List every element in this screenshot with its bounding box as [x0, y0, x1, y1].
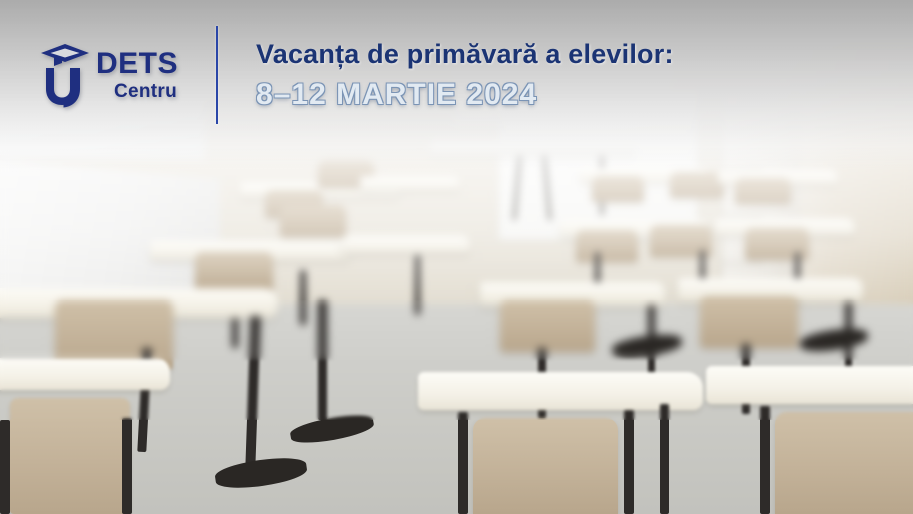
chair-leg — [0, 420, 10, 514]
chair-leg — [122, 418, 132, 514]
desk-leg — [318, 300, 327, 420]
cabinet-shelf — [721, 215, 763, 217]
student-chair — [670, 172, 724, 198]
cabinet-shelf — [721, 262, 763, 264]
student-chair — [592, 176, 644, 202]
promo-banner: DETS Centru Vacanța de primăvară a elevi… — [0, 0, 913, 514]
student-chair — [775, 412, 913, 514]
student-chair — [576, 230, 638, 262]
chair-leg — [458, 412, 468, 514]
header-divider — [216, 26, 218, 124]
desk-leg — [415, 255, 420, 315]
chair-leg — [760, 406, 770, 514]
student-chair — [473, 418, 618, 514]
student-chair — [280, 205, 346, 237]
headline-dates: 8–12 MARTIE 2024 — [256, 78, 674, 112]
student-chair — [195, 252, 273, 292]
student-desk — [706, 366, 913, 404]
student-chair — [700, 296, 798, 348]
student-desk — [0, 358, 170, 390]
chair-leg — [624, 410, 634, 514]
logo-primary-text: DETS — [96, 49, 178, 79]
student-chair — [10, 398, 130, 514]
student-chair — [735, 178, 791, 204]
desk-leg — [660, 404, 669, 514]
graduation-cap-u-logo-icon — [40, 42, 92, 108]
logo-secondary-text: Centru — [114, 82, 178, 101]
headline-block: Vacanța de primăvară a elevilor: 8–12 MA… — [256, 39, 674, 112]
headline-title: Vacanța de primăvară a elevilor: — [256, 39, 674, 70]
chair-leg — [300, 270, 306, 325]
logo-wordmark: DETS Centru — [96, 49, 178, 101]
student-chair — [500, 300, 595, 352]
banner-header: DETS Centru Vacanța de primăvară a elevi… — [0, 0, 913, 150]
student-desk — [360, 176, 460, 190]
student-desk — [340, 235, 470, 253]
dets-logo[interactable]: DETS Centru — [40, 42, 178, 108]
